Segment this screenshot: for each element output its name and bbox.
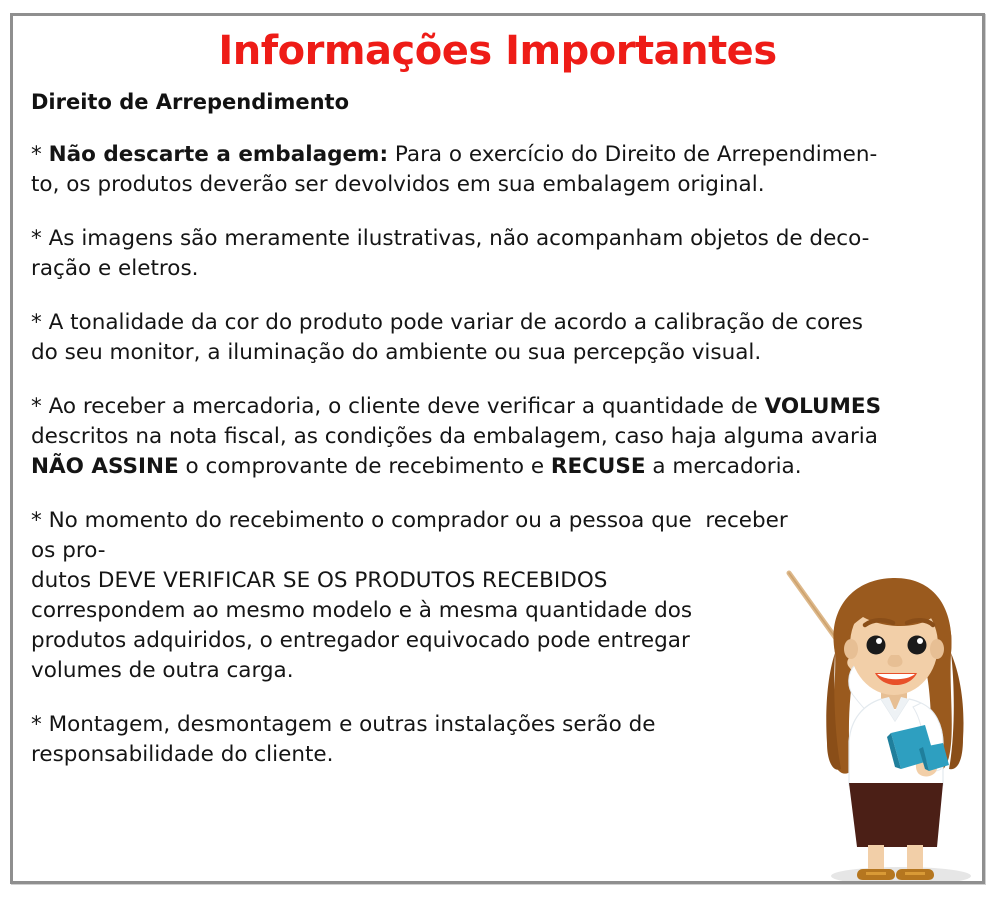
paragraph-packaging-lead: Não descarte a embalagem: [49,142,388,167]
keyword-recuse: RECUSE [551,454,646,479]
skirt-shape [849,783,943,847]
keyword-volumes: VOLUMES [765,394,882,419]
right-ear-shape [930,639,944,659]
paragraph-assembly: * Montagem, desmontagem e outras instala… [31,710,791,770]
paragraph-packaging: * Não descarte a embalagem: Para o exerc… [31,140,981,200]
bullet-marker: * [31,142,49,167]
page-title: Informações Importantes [13,28,982,74]
paragraph-color-tone: * A tonalidade da cor do produto pode va… [31,308,981,368]
left-ear-shape [844,639,858,659]
keyword-nao-assine: NÃO ASSINE [31,454,179,479]
teacher-with-pointer-illustration [783,561,985,884]
paragraph-volumes-text-a: * Ao receber a mercadoria, o cliente dev… [31,394,765,419]
right-eye-icon [908,636,927,655]
paragraph-images: * As imagens são meramente ilustrativas,… [31,224,981,284]
section-subtitle: Direito de Arrependimento [31,88,349,116]
right-leg-shape [907,845,923,873]
paragraph-volumes: * Ao receber a mercadoria, o cliente dev… [31,392,981,482]
paragraph-receipt-check: * No momento do recebimento o comprador … [31,506,791,686]
left-eye-icon [867,636,886,655]
paragraph-volumes-text-d: a mercadoria. [646,454,802,479]
paragraph-volumes-text-b: descritos na nota fiscal, as condições d… [31,424,878,449]
left-leg-shape [868,845,884,873]
paragraph-volumes-text-c: o comprovante de recebimento e [179,454,551,479]
nose-shape [888,655,903,667]
information-panel: Informações Importantes Direito de Arrep… [10,13,985,884]
page-root: Informações Importantes Direito de Arrep… [0,0,1000,900]
